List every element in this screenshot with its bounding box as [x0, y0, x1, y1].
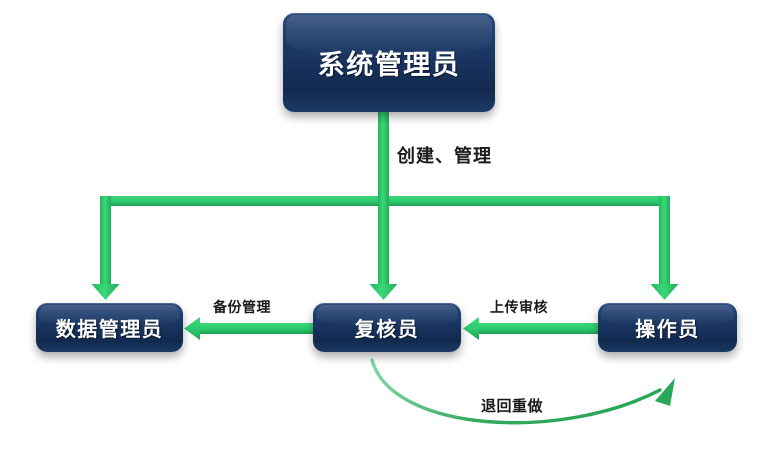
edge-create-tree [92, 110, 679, 300]
diagram-canvas: 系统管理员 数据管理员 复核员 操作员 创建、管理 备份管理 上传审核 退回重做 [0, 0, 760, 456]
node-data-manager[interactable]: 数据管理员 [36, 303, 183, 352]
node-operator[interactable]: 操作员 [598, 303, 737, 352]
node-datamgr-label: 数据管理员 [56, 313, 164, 342]
edge-label-backup-management: 备份管理 [213, 297, 271, 317]
node-reviewer[interactable]: 复核员 [313, 303, 461, 352]
edge-upload-arrow [463, 317, 598, 340]
edge-label-create-manage: 创建、管理 [397, 142, 492, 168]
node-operator-label: 操作员 [635, 313, 700, 342]
edge-backup-arrow [184, 317, 313, 340]
edge-label-return-rework: 退回重做 [481, 395, 543, 416]
node-admin-label: 系统管理员 [318, 43, 461, 82]
node-system-administrator[interactable]: 系统管理员 [283, 13, 495, 112]
node-reviewer-label: 复核员 [355, 313, 420, 342]
edge-label-upload-review: 上传审核 [490, 297, 548, 317]
